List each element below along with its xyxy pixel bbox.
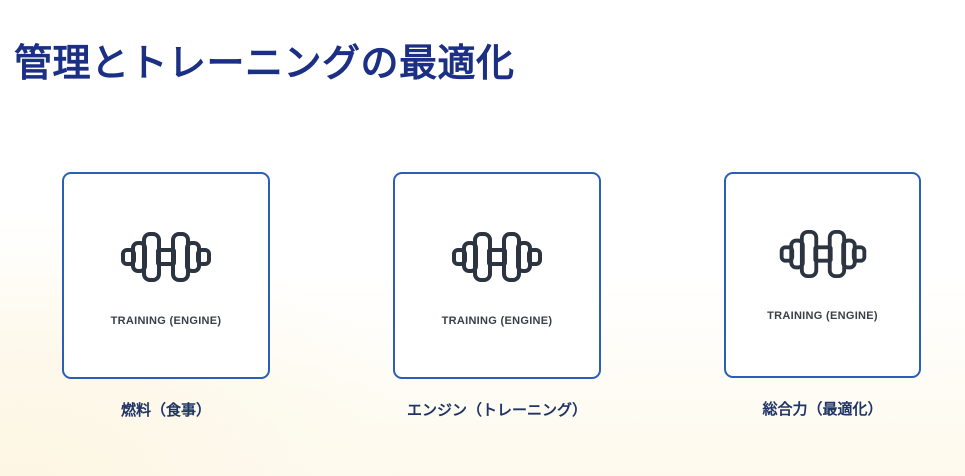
card-engine[interactable]: TRAINING (ENGINE) [393,172,601,379]
slide-canvas: 管理とトレーニングの最適化 TRAINING (ENGINE) [0,0,965,476]
card-block-engine: TRAINING (ENGINE) エンジン（トレーニング） [393,172,601,420]
dumbbell-icon [773,224,873,284]
card-caption: エンジン（トレーニング） [393,399,601,420]
card-label: TRAINING (ENGINE) [111,315,222,327]
dumbbell-icon [114,226,218,288]
dumbbell-icon [445,226,549,288]
card-fuel[interactable]: TRAINING (ENGINE) [62,172,270,379]
page-title: 管理とトレーニングの最適化 [14,43,515,87]
card-caption: 総合力（最適化） [724,398,921,419]
card-total[interactable]: TRAINING (ENGINE) [724,172,921,378]
card-block-fuel: TRAINING (ENGINE) 燃料（食事） [62,172,270,420]
card-label: TRAINING (ENGINE) [442,315,553,327]
card-label: TRAINING (ENGINE) [767,310,878,322]
cards-row: TRAINING (ENGINE) 燃料（食事） [0,172,965,432]
card-caption: 燃料（食事） [62,399,270,420]
card-block-total: TRAINING (ENGINE) 総合力（最適化） [724,172,921,419]
